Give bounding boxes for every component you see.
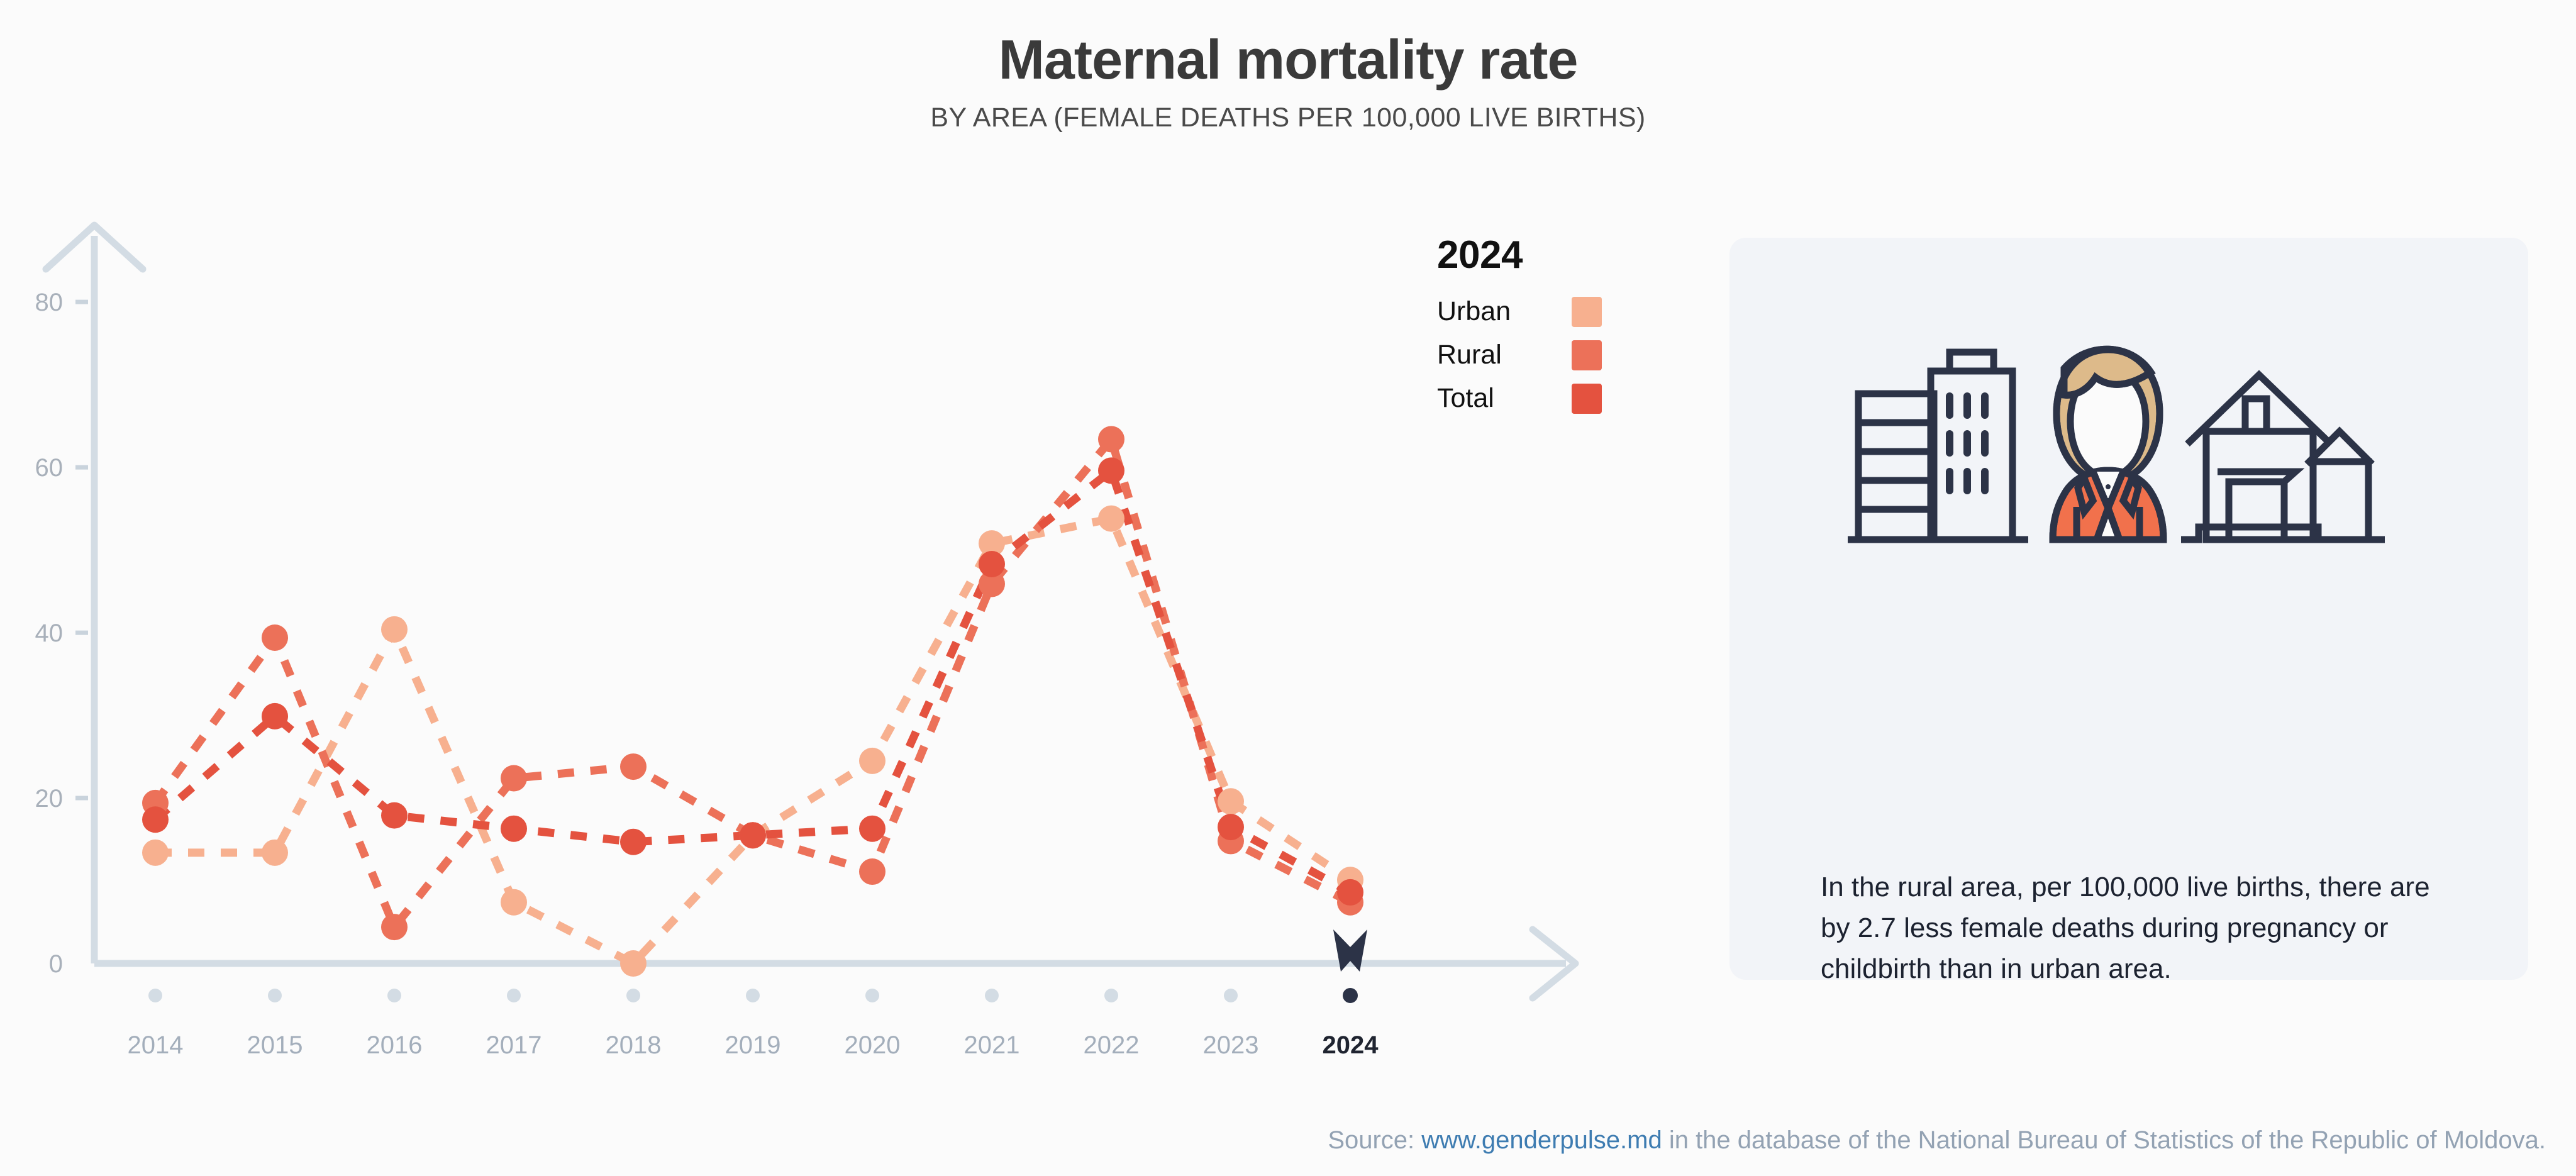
- data-point-total[interactable]: [979, 551, 1005, 577]
- x-axis-label-2022[interactable]: 2022: [1084, 1031, 1140, 1059]
- legend-item-label: Urban: [1437, 296, 1511, 327]
- chart-header: Maternal mortality rate BY AREA (FEMALE …: [0, 0, 2576, 133]
- legend-year: 2024: [1437, 233, 1626, 277]
- page-title: Maternal mortality rate: [0, 30, 2576, 89]
- x-axis-labels: 2014201520162017201820192020202120222023…: [128, 1031, 1379, 1059]
- data-point-total[interactable]: [381, 802, 408, 829]
- x-axis-label-2023[interactable]: 2023: [1203, 1031, 1259, 1059]
- y-axis-tick-label: 80: [35, 289, 64, 316]
- x-axis-dot-active[interactable]: [1343, 988, 1358, 1003]
- x-axis-dot[interactable]: [148, 989, 162, 1002]
- office-tower-icon: [1924, 352, 2028, 540]
- data-point-total[interactable]: [859, 816, 885, 842]
- data-point-total[interactable]: [740, 822, 766, 848]
- x-axis-label-2020[interactable]: 2020: [845, 1031, 901, 1059]
- legend-item-label: Rural: [1437, 340, 1502, 370]
- data-point-urban[interactable]: [501, 889, 527, 916]
- x-axis-dot[interactable]: [865, 989, 879, 1002]
- x-axis-label-2024[interactable]: 2024: [1323, 1031, 1379, 1059]
- data-point-total[interactable]: [1218, 814, 1244, 840]
- source-prefix: Source:: [1328, 1126, 1421, 1154]
- data-point-urban[interactable]: [381, 616, 408, 643]
- data-point-total[interactable]: [262, 703, 288, 729]
- y-axis-tick-label: 40: [35, 619, 64, 647]
- city-woman-house-illustration: [1843, 338, 2409, 568]
- source-link[interactable]: www.genderpulse.md: [1421, 1126, 1662, 1154]
- x-axis-dot[interactable]: [507, 989, 521, 1002]
- y-axis-tick-label: 20: [35, 785, 64, 813]
- legend-swatch-urban: [1572, 297, 1602, 327]
- data-point-total[interactable]: [501, 816, 527, 842]
- x-axis-dot[interactable]: [268, 989, 282, 1002]
- x-axis-dots: [148, 988, 1358, 1003]
- series-line-rural: [155, 439, 1350, 927]
- source-suffix: in the database of the National Bureau o…: [1662, 1126, 2546, 1154]
- legend-item-rural[interactable]: Rural: [1437, 340, 1602, 370]
- data-point-urban[interactable]: [620, 950, 647, 977]
- data-point-urban[interactable]: [1098, 506, 1124, 532]
- source-note: Source: www.genderpulse.md in the databa…: [1328, 1126, 2546, 1155]
- x-axis-label-2021[interactable]: 2021: [964, 1031, 1020, 1059]
- chart-series-lines: [155, 439, 1350, 963]
- y-axis-ticks: 020406080: [35, 289, 89, 978]
- data-point-total[interactable]: [1098, 457, 1124, 484]
- data-point-urban[interactable]: [1218, 788, 1244, 814]
- legend-item-label: Total: [1437, 383, 1494, 414]
- data-point-total[interactable]: [620, 829, 647, 855]
- x-axis-dot[interactable]: [387, 989, 401, 1002]
- data-point-total[interactable]: [1337, 879, 1363, 906]
- data-point-rural[interactable]: [1098, 426, 1124, 452]
- chart-svg: 020406080 201420152016201720182019202020…: [0, 189, 1635, 1069]
- legend-item-total[interactable]: Total: [1437, 383, 1602, 414]
- series-line-urban: [155, 519, 1350, 963]
- chart-legend: 2024 UrbanRuralTotal: [1437, 233, 1626, 426]
- data-point-urban[interactable]: [262, 840, 288, 866]
- x-axis-label-2018[interactable]: 2018: [606, 1031, 662, 1059]
- data-point-rural[interactable]: [859, 858, 885, 885]
- apartment-building-icon: [1848, 394, 1953, 540]
- x-axis-label-2019[interactable]: 2019: [725, 1031, 781, 1059]
- x-axis-label-2017[interactable]: 2017: [486, 1031, 542, 1059]
- data-point-rural[interactable]: [501, 765, 527, 791]
- x-axis-label-2014[interactable]: 2014: [128, 1031, 184, 1059]
- x-axis-dot[interactable]: [1224, 989, 1238, 1002]
- data-point-rural[interactable]: [620, 753, 647, 780]
- page-subtitle: BY AREA (FEMALE DEATHS PER 100,000 LIVE …: [0, 103, 2576, 133]
- data-point-rural[interactable]: [381, 914, 408, 940]
- legend-item-urban[interactable]: Urban: [1437, 296, 1602, 327]
- data-point-total[interactable]: [142, 806, 169, 833]
- x-axis-dot[interactable]: [985, 989, 999, 1002]
- line-chart: 020406080 201420152016201720182019202020…: [0, 189, 1635, 1069]
- info-card-text: In the rural area, per 100,000 live birt…: [1821, 867, 2450, 989]
- x-axis-dot[interactable]: [1104, 989, 1118, 1002]
- legend-swatch-rural: [1572, 340, 1602, 370]
- x-axis-label-2016[interactable]: 2016: [367, 1031, 423, 1059]
- data-point-urban[interactable]: [142, 840, 169, 866]
- y-axis-tick-label: 0: [49, 950, 63, 978]
- x-axis-label-2015[interactable]: 2015: [247, 1031, 303, 1059]
- chart-page: Maternal mortality rate BY AREA (FEMALE …: [0, 0, 2576, 1176]
- woman-avatar-icon: [2053, 349, 2163, 540]
- y-axis-tick-label: 60: [35, 454, 64, 482]
- legend-swatch-total: [1572, 384, 1602, 414]
- data-point-urban[interactable]: [859, 748, 885, 774]
- x-axis-dot[interactable]: [746, 989, 760, 1002]
- chart-series-points: [142, 426, 1363, 977]
- data-point-rural[interactable]: [262, 624, 288, 651]
- house-icon: [2181, 375, 2385, 540]
- x-axis-dot[interactable]: [626, 989, 640, 1002]
- info-card: In the rural area, per 100,000 live birt…: [1729, 238, 2528, 980]
